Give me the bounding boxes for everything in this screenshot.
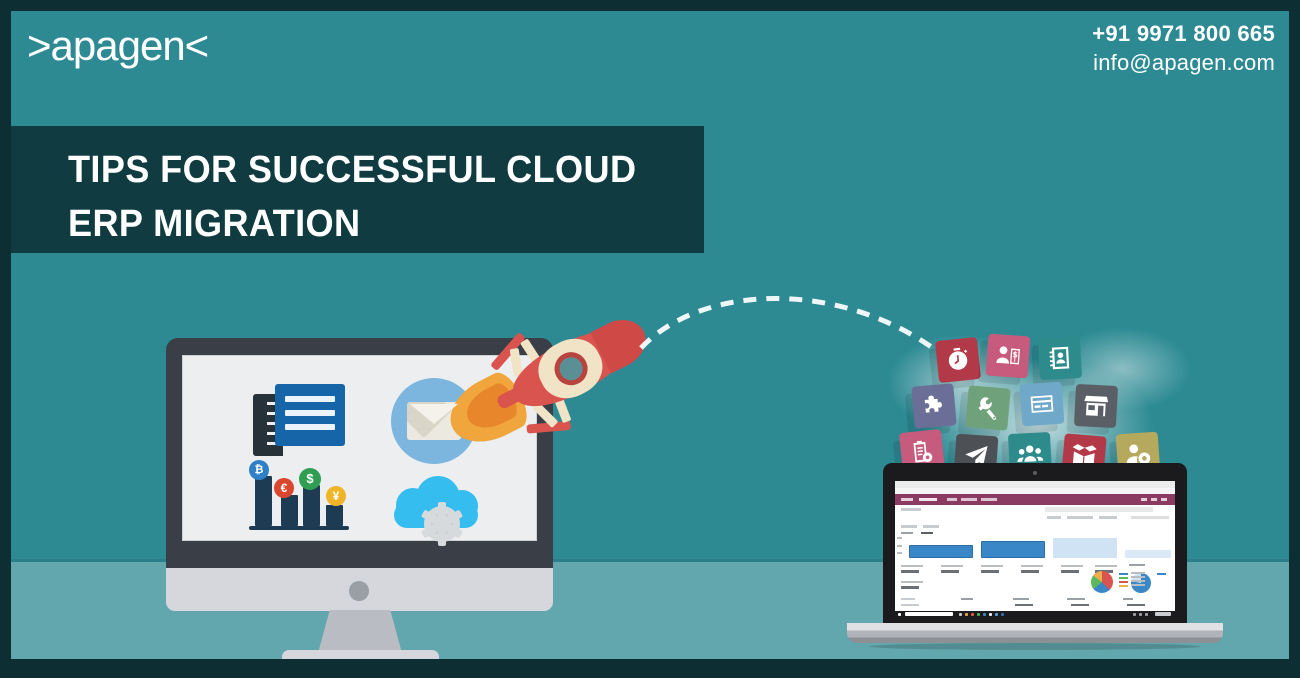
erp-data-table: [895, 597, 1175, 611]
stopwatch-icon[interactable]: [935, 337, 981, 383]
tray-icon[interactable]: [1145, 613, 1148, 616]
laptop-shadow: [869, 643, 1201, 650]
funnel-bar: [981, 541, 1045, 558]
monitor-power-button[interactable]: [349, 581, 369, 601]
bitcoin-coin: ₿: [249, 460, 269, 480]
monitor-stand-neck: [318, 610, 402, 653]
title-line-2: ERP MIGRATION: [68, 203, 360, 245]
webcam-icon: [1033, 471, 1037, 475]
taskbar-search-box[interactable]: [905, 612, 953, 616]
taskbar-clock: [1155, 612, 1171, 616]
storefront-icon[interactable]: [1074, 384, 1118, 428]
erp-search-panel: [895, 505, 1175, 524]
laptop-lid: [883, 463, 1187, 625]
kpi-tile: [901, 565, 923, 573]
erp-salesteam-block: [1091, 565, 1175, 597]
cloud-app-tiles: [911, 339, 1171, 479]
tray-icon[interactable]: [1133, 613, 1136, 616]
kpi-tile: [941, 565, 963, 573]
logo-text: >apagen<: [27, 22, 208, 69]
employee-payroll-icon[interactable]: [986, 334, 1031, 379]
tray-icon[interactable]: [1139, 613, 1142, 616]
kpi-tile: [1021, 565, 1043, 573]
contact-block: +91 9971 800 665 info@apagen.com: [1092, 19, 1275, 78]
contact-phone[interactable]: +91 9971 800 665: [1092, 19, 1275, 48]
chart-bar: [255, 476, 272, 526]
credit-card-icon[interactable]: [1020, 382, 1065, 427]
app-icon[interactable]: [971, 613, 974, 616]
salesteam-pie: [1091, 571, 1113, 593]
kpi-tile: [1061, 565, 1083, 573]
chart-bar: [326, 505, 343, 526]
contacts-book-icon[interactable]: [1038, 336, 1082, 380]
laptop-base: [847, 623, 1223, 643]
ledger-document-icon: [253, 384, 345, 456]
banner-root: >apagen< +91 9971 800 665 info@apagen.co…: [0, 0, 1300, 678]
laptop-screen: [895, 481, 1175, 617]
funnel-bar: [1053, 538, 1117, 558]
erp-funnel-chart: [895, 523, 1175, 562]
erp-app-navbar: [895, 494, 1175, 505]
wrench-tool-icon[interactable]: [965, 385, 1011, 431]
yen-coin: ¥: [326, 486, 346, 506]
windows-taskbar: [895, 611, 1175, 617]
app-icon[interactable]: [977, 613, 980, 616]
ledger-body: [275, 384, 345, 446]
kpi-tile: [981, 565, 1003, 573]
cloud-erp-laptop: [847, 463, 1223, 653]
chart-axis: [249, 526, 349, 530]
explorer-icon[interactable]: [965, 613, 968, 616]
taskview-icon[interactable]: [959, 613, 962, 616]
puzzle-piece-icon[interactable]: [911, 383, 957, 429]
app-icon[interactable]: [1001, 613, 1004, 616]
banner-frame: >apagen< +91 9971 800 665 info@apagen.co…: [11, 11, 1289, 659]
dollar-coin: $: [299, 468, 321, 490]
start-button[interactable]: [898, 613, 901, 616]
title-plate: TIPS FOR SUCCESSFUL CLOUD ERP MIGRATION: [11, 126, 704, 253]
page-title: TIPS FOR SUCCESSFUL CLOUD ERP MIGRATION: [68, 144, 657, 252]
app-icon[interactable]: [989, 613, 992, 616]
chart-bar: [281, 495, 298, 526]
app-icon[interactable]: [983, 613, 986, 616]
finance-bar-chart-icon: ₿ € $ ¥: [249, 464, 349, 532]
apagen-logo[interactable]: >apagen<: [27, 25, 208, 67]
funnel-bar: [1125, 550, 1171, 558]
gear-icon: [424, 506, 460, 542]
app-icon[interactable]: [995, 613, 998, 616]
funnel-bar: [909, 545, 973, 558]
euro-coin: €: [274, 478, 294, 498]
kpi-tile: [901, 581, 923, 589]
contact-email[interactable]: info@apagen.com: [1092, 48, 1275, 77]
cloud-settings-icon: [388, 474, 484, 536]
title-line-1: TIPS FOR SUCCESSFUL CLOUD: [68, 149, 636, 191]
chart-bar: [303, 485, 320, 526]
monitor-stand-base: [282, 650, 439, 659]
